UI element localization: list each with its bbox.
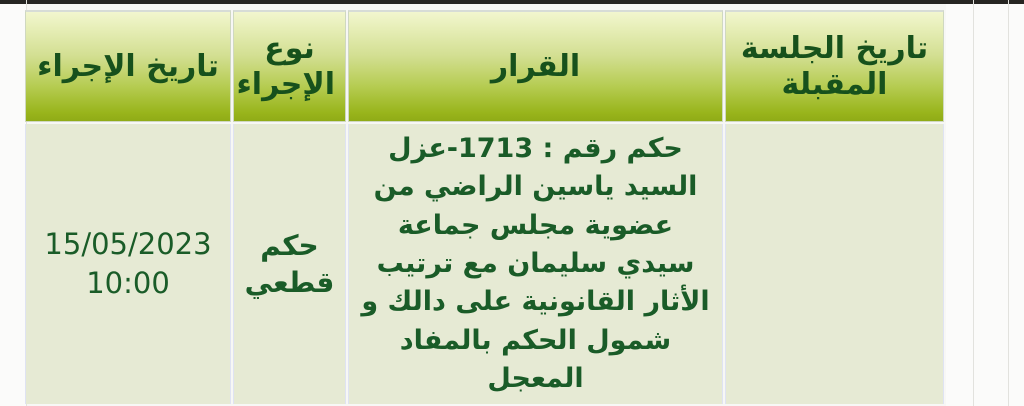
agenda-table: تاريخ الجلسة المقبلة القرار نوع الإجراء …	[23, 8, 946, 406]
table-header: تاريخ الجلسة المقبلة القرار نوع الإجراء …	[25, 10, 944, 122]
procedure-time-value: 10:00	[34, 264, 222, 303]
column-header-procedure-type[interactable]: نوع الإجراء	[233, 10, 346, 122]
page-gutter-right	[946, 4, 1024, 406]
cell-procedure-date: 15/05/2023 10:00	[25, 124, 231, 404]
table-header-row: تاريخ الجلسة المقبلة القرار نوع الإجراء …	[25, 10, 944, 122]
cell-decision: حكم رقم : 1713-عزل السيد ياسين الراضي من…	[348, 124, 723, 404]
top-dark-strip	[0, 0, 1024, 4]
page-frame-rule-right-outer	[1008, 0, 1009, 406]
table-row[interactable]: حكم رقم : 1713-عزل السيد ياسين الراضي من…	[25, 124, 944, 404]
agenda-table-wrapper: تاريخ الجلسة المقبلة القرار نوع الإجراء …	[33, 8, 946, 398]
column-header-decision[interactable]: القرار	[348, 10, 723, 122]
cell-next-session-date	[725, 124, 944, 404]
procedure-date-value: 15/05/2023	[34, 225, 222, 264]
column-header-next-session-date[interactable]: تاريخ الجلسة المقبلة	[725, 10, 944, 122]
screenshot-canvas: تاريخ الجلسة المقبلة القرار نوع الإجراء …	[0, 0, 1024, 406]
page-frame-rule-right-inner	[973, 0, 974, 406]
column-header-procedure-date[interactable]: تاريخ الإجراء	[25, 10, 231, 122]
cell-procedure-type: حكم قطعي	[233, 124, 346, 404]
table-body: حكم رقم : 1713-عزل السيد ياسين الراضي من…	[25, 124, 944, 406]
